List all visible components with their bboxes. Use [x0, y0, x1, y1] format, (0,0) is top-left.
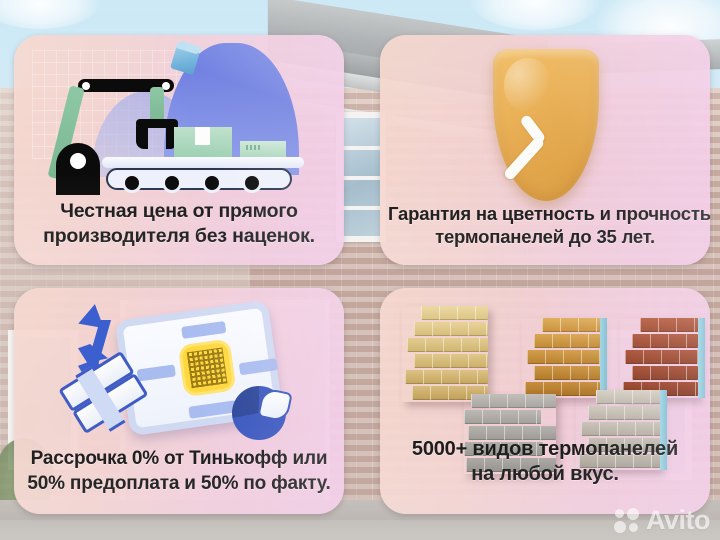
avito-watermark: Avito	[614, 507, 710, 534]
card-variety[interactable]: 5000+ видов термопанелей на любой вкус.	[380, 288, 710, 514]
shield-check-icon	[493, 49, 599, 201]
factory-robot-arm-icon	[14, 35, 344, 195]
card-caption: Честная цена от прямого производителя бе…	[22, 199, 336, 249]
robot-gripper-icon	[136, 119, 178, 149]
robot-arm-column	[150, 87, 164, 123]
caption-line: термопанелей до 35 лет.	[388, 225, 702, 249]
card-caption: 5000+ видов термопанелей на любой вкус.	[388, 437, 702, 488]
caption-line: 5000+ видов термопанелей	[388, 437, 702, 463]
panel-sample-beige	[402, 306, 488, 402]
panel-sample-red	[620, 318, 698, 398]
panel-sample-golden	[522, 318, 600, 398]
caption-line: производителя без наценок.	[22, 224, 336, 249]
avito-wordmark: Avito	[646, 507, 710, 534]
card-caption: Рассрочка 0% от Тинькофф или 50% предопл…	[22, 447, 336, 496]
package-large	[174, 127, 232, 159]
caption-line: 50% предоплата и 50% по факту.	[22, 472, 336, 496]
card-installment[interactable]: Рассрочка 0% от Тинькофф или 50% предопл…	[14, 288, 344, 514]
card-warranty[interactable]: Гарантия на цветность и прочность термоп…	[380, 35, 710, 265]
tablet-payment-icon	[14, 288, 344, 448]
caption-line: Честная цена от прямого	[22, 199, 336, 224]
robot-base	[56, 143, 100, 195]
card-fair-price[interactable]: Честная цена от прямого производителя бе…	[14, 35, 344, 265]
caption-line: Гарантия на цветность и прочность	[388, 202, 702, 226]
qr-code-icon	[178, 339, 237, 398]
promo-collage: Честная цена от прямого производителя бе…	[0, 0, 720, 540]
caption-line: Рассрочка 0% от Тинькофф или	[22, 447, 336, 471]
checkmark-icon	[513, 95, 581, 147]
avito-dots-icon	[614, 508, 640, 534]
caption-line: на любой вкус.	[388, 462, 702, 488]
pie-chart-icon	[232, 386, 286, 440]
card-caption: Гарантия на цветность и прочность термоп…	[388, 202, 702, 249]
conveyor-surface	[102, 157, 304, 168]
conveyor-belt	[106, 168, 292, 190]
brick-panels-icon	[380, 288, 710, 448]
